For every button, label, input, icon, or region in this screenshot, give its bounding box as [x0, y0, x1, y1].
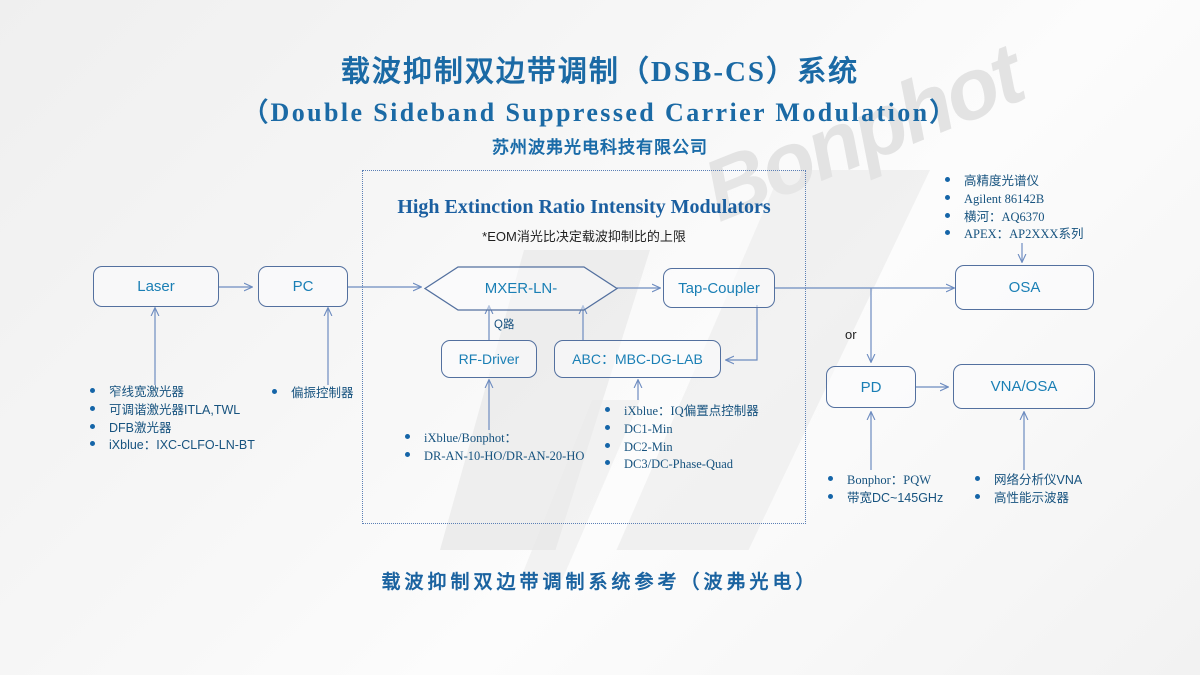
list-item: iXblue/Bonphot： [405, 430, 584, 448]
bullet-icon [975, 494, 980, 499]
bullet-icon [90, 424, 95, 429]
node-vna-osa-label: VNA/OSA [991, 378, 1058, 395]
diagram-canvas: Bonphot 载波抑制双边带调制（DSB-CS）系统 （Double Side… [0, 0, 1200, 675]
bullet-icon [828, 494, 833, 499]
bullet-icon [605, 443, 610, 448]
bullet-icon [945, 195, 950, 200]
list-item: iXblue：IXC-CLFO-LN-BT [90, 437, 255, 455]
bullet-icon [945, 230, 950, 235]
list-item: 高性能示波器 [975, 490, 1082, 508]
annotation-vna-osa: 网络分析仪VNA 高性能示波器 [975, 472, 1082, 508]
bullet-icon [405, 452, 410, 457]
list-item: Bonphor：PQW [828, 472, 943, 490]
list-item: 网络分析仪VNA [975, 472, 1082, 490]
list-item: APEX：AP2XXX系列 [945, 226, 1083, 244]
node-abc-label: ABC：MBC-DG-LAB [572, 349, 703, 369]
list-item: DFB激光器 [90, 420, 255, 438]
bullet-icon [605, 425, 610, 430]
node-vna-osa[interactable]: VNA/OSA [953, 364, 1095, 409]
bullet-icon [605, 460, 610, 465]
list-item: DC2-Min [605, 439, 759, 457]
bullet-icon [405, 434, 410, 439]
list-item: 高精度光谱仪 [945, 173, 1083, 191]
annotation-pc: 偏振控制器 [272, 385, 354, 403]
node-pc-label: PC [293, 278, 314, 295]
list-item: iXblue：IQ偏置点控制器 [605, 403, 759, 421]
node-tap-coupler[interactable]: Tap-Coupler [663, 268, 775, 308]
node-osa-label: OSA [1009, 279, 1041, 296]
list-item: DC1-Min [605, 421, 759, 439]
list-item: Agilent 86142B [945, 191, 1083, 209]
list-item: 横河：AQ6370 [945, 209, 1083, 227]
bullet-icon [945, 213, 950, 218]
bullet-icon [90, 388, 95, 393]
list-item: DR-AN-10-HO/DR-AN-20-HO [405, 448, 584, 466]
list-item: 窄线宽激光器 [90, 384, 255, 402]
node-pd[interactable]: PD [826, 366, 916, 408]
connector-wires [0, 0, 1200, 675]
bullet-icon [90, 441, 95, 446]
list-item: 带宽DC~145GHz [828, 490, 943, 508]
label-or: or [845, 327, 857, 342]
node-rf-driver-label: RF-Driver [459, 351, 520, 367]
annotation-laser: 窄线宽激光器 可调谐激光器ITLA,TWL DFB激光器 iXblue：IXC-… [90, 384, 255, 455]
node-osa[interactable]: OSA [955, 265, 1094, 310]
bullet-icon [828, 476, 833, 481]
node-rf-driver[interactable]: RF-Driver [441, 340, 537, 378]
bullet-icon [945, 177, 950, 182]
bullet-icon [975, 476, 980, 481]
node-laser[interactable]: Laser [93, 266, 219, 307]
label-q-path: Q路 [494, 316, 514, 332]
node-abc[interactable]: ABC：MBC-DG-LAB [554, 340, 721, 378]
bullet-icon [272, 389, 277, 394]
node-mxer-ln[interactable]: MXER-LN- [424, 266, 618, 311]
region-note: *EOM消光比决定载波抑制比的上限 [362, 226, 806, 245]
node-pd-label: PD [861, 379, 882, 396]
annotation-rf-driver: iXblue/Bonphot： DR-AN-10-HO/DR-AN-20-HO [405, 430, 584, 466]
node-laser-label: Laser [137, 278, 175, 295]
node-mxer-ln-label: MXER-LN- [485, 280, 558, 297]
list-item: DC3/DC-Phase-Quad [605, 456, 759, 474]
bullet-icon [90, 406, 95, 411]
region-title: High Extinction Ratio Intensity Modulato… [362, 196, 806, 219]
annotation-pd: Bonphor：PQW 带宽DC~145GHz [828, 472, 943, 508]
bullet-icon [605, 407, 610, 412]
list-item: 可调谐激光器ITLA,TWL [90, 402, 255, 420]
annotation-abc: iXblue：IQ偏置点控制器 DC1-Min DC2-Min DC3/DC-P… [605, 403, 759, 474]
node-pc[interactable]: PC [258, 266, 348, 307]
annotation-osa: 高精度光谱仪 Agilent 86142B 横河：AQ6370 APEX：AP2… [945, 173, 1083, 244]
node-tap-coupler-label: Tap-Coupler [678, 280, 760, 297]
list-item: 偏振控制器 [272, 385, 354, 403]
